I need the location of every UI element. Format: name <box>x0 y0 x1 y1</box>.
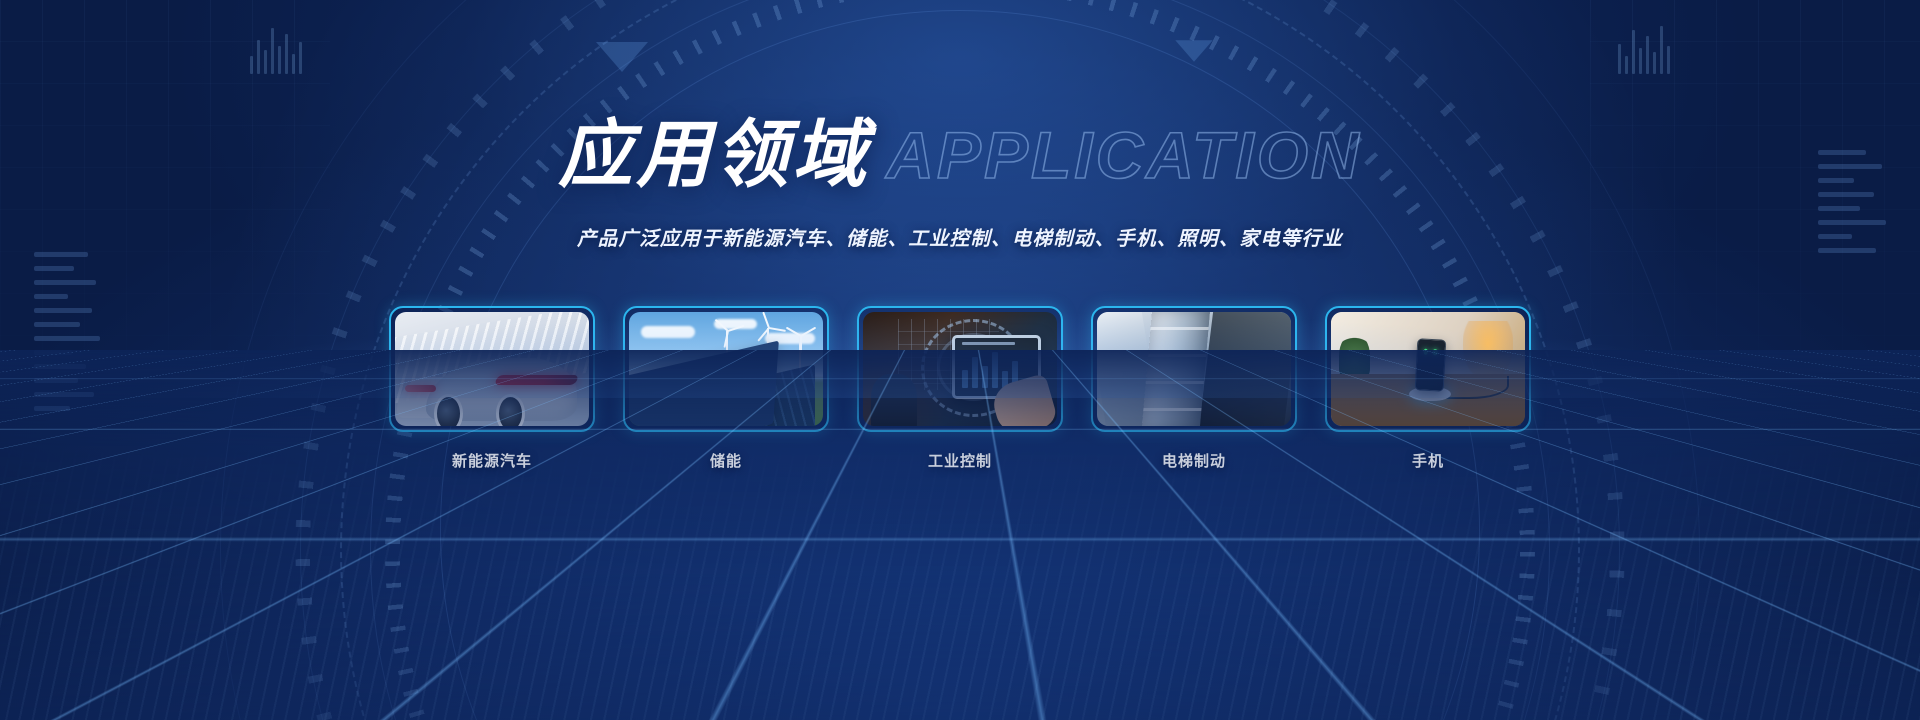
application-banner: 应用领域 APPLICATION 产品广泛应用于新能源汽车、储能、工业控制、电梯… <box>0 0 1920 720</box>
triangle-marker-right <box>1175 40 1212 62</box>
perspective-grid-floor <box>0 350 1920 720</box>
tick-marks-upper-left <box>250 20 302 74</box>
banner-subtitle: 产品广泛应用于新能源汽车、储能、工业控制、电梯制动、手机、照明、家电等行业 <box>0 222 1920 251</box>
title-row: 应用领域 APPLICATION <box>558 118 1361 192</box>
triangle-marker-left <box>596 42 648 72</box>
banner-heading: 应用领域 APPLICATION 产品广泛应用于新能源汽车、储能、工业控制、电梯… <box>0 118 1920 251</box>
tick-marks-upper-right <box>1618 20 1670 74</box>
page-title-english: APPLICATION <box>886 122 1361 188</box>
page-title: 应用领域 <box>558 118 870 192</box>
grid-tint <box>0 350 1920 720</box>
